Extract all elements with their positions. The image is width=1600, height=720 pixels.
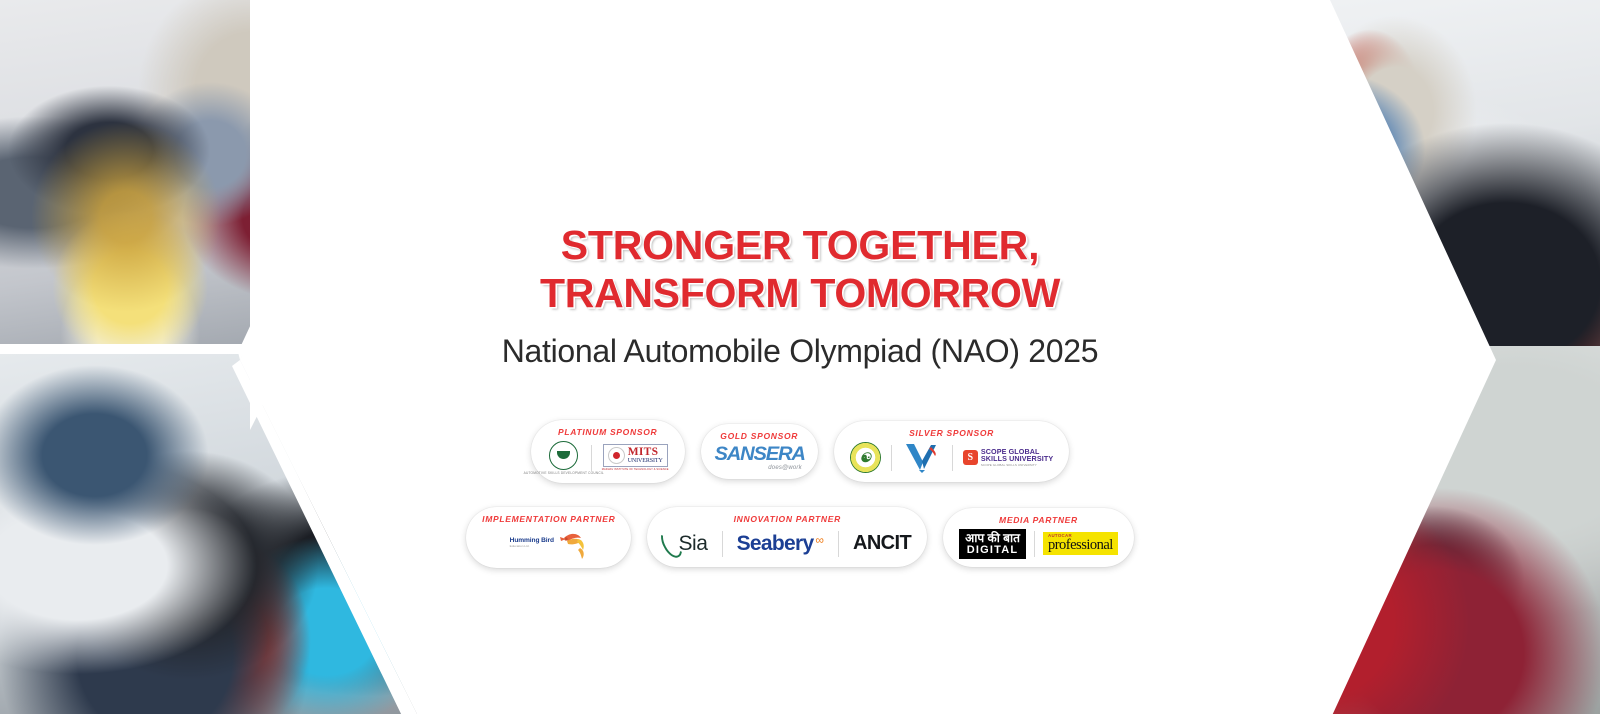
asdc-caption: AUTOMOTIVE SKILLS DEVELOPMENT COUNCIL (524, 471, 604, 475)
sponsor-card-silver[interactable]: SILVER SPONSOR ☯ (834, 421, 1069, 482)
sansera-logo[interactable]: SANSERA does@work (717, 445, 802, 471)
government-seal-icon: ☯ (850, 442, 881, 473)
logo-divider (838, 531, 839, 557)
humming-bird-icon (558, 528, 588, 560)
scope-caption: SCOPE GLOBAL SKILLS UNIVERSITY (981, 464, 1053, 467)
sponsor-tier-label: MEDIA PARTNER (999, 515, 1078, 525)
logo-strip: आप की बात DIGITAL AUTOCAR professional (959, 529, 1118, 559)
mits-caption: MADHAV INSTITUTE OF TECHNOLOGY & SCIENCE (602, 468, 669, 471)
mits-university-logo[interactable]: MITS UNIVERSITY MADHAV INSTITUTE OF TECH… (602, 444, 669, 472)
sponsor-tier-label: GOLD SPONSOR (720, 431, 798, 441)
sponsor-card-platinum[interactable]: PLATINUM SPONSOR AUTOMOTIVE SKILLS DEVEL… (531, 420, 685, 483)
logo-divider (1034, 531, 1035, 557)
logo-divider (952, 445, 953, 471)
sponsor-card-innovation-partner[interactable]: INNOVATION PARTNER Sia Seabery ∞ (647, 507, 927, 567)
hero-content: STRONGER TOGETHER, TRANSFORM TOMORROW Na… (0, 0, 1600, 720)
mits-emblem-icon (608, 447, 625, 464)
logo-divider (891, 445, 892, 471)
ancit-wordmark: ANCIT (853, 532, 911, 555)
ancit-logo[interactable]: ANCIT (853, 532, 911, 555)
professional-magazine-logo[interactable]: AUTOCAR professional (1043, 532, 1118, 556)
logo-strip: AUTOMOTIVE SKILLS DEVELOPMENT COUNCIL MI… (547, 441, 669, 475)
humming-bird-subtext: Education Ltd. (510, 545, 530, 548)
page-title: STRONGER TOGETHER, TRANSFORM TOMORROW (400, 222, 1200, 317)
humming-bird-logo[interactable]: Humming Bird Education Ltd. (510, 528, 588, 560)
sponsor-row-partners: IMPLEMENTATION PARTNER Humming Bird Educ… (400, 504, 1200, 570)
scope-global-skills-university-logo[interactable]: S SCOPE GLOBAL SKILLS UNIVERSITY SCOPE G… (963, 448, 1053, 467)
sponsor-card-gold[interactable]: GOLD SPONSOR SANSERA does@work (701, 424, 818, 479)
event-subtitle: National Automobile Olympiad (NAO) 2025 (400, 333, 1200, 370)
logo-divider (722, 531, 723, 557)
mits-wordmark: MITS (628, 447, 663, 459)
logo-strip: SANSERA does@work (717, 445, 802, 471)
headline-line-1: STRONGER TOGETHER, (400, 222, 1200, 270)
sia-wordmark: Sia (678, 532, 707, 556)
sponsor-card-implementation-partner[interactable]: IMPLEMENTATION PARTNER Humming Bird Educ… (466, 507, 631, 568)
seabery-wordmark: Seabery (737, 532, 814, 556)
seabery-logo[interactable]: Seabery ∞ (737, 532, 824, 556)
aap-ki-baat-digital-logo[interactable]: आप की बात DIGITAL (959, 529, 1026, 559)
sponsor-card-media-partner[interactable]: MEDIA PARTNER आप की बात DIGITAL AUTOCAR … (943, 508, 1134, 567)
v-bird-logo[interactable] (902, 442, 942, 474)
professional-wordmark: professional (1048, 538, 1113, 553)
logo-divider (591, 445, 592, 471)
scope-line-2: SKILLS UNIVERSITY (981, 455, 1053, 463)
v-bird-icon (902, 442, 942, 474)
sansera-wordmark: SANSERA (714, 445, 804, 464)
sponsor-tier-label: IMPLEMENTATION PARTNER (482, 514, 615, 524)
aap-ki-baat-hindi-text: आप की बात (965, 532, 1020, 544)
sponsor-tier-label: SILVER SPONSOR (909, 428, 994, 438)
poster-canvas: STRONGER TOGETHER, TRANSFORM TOMORROW Na… (0, 0, 1600, 720)
mits-subtext: UNIVERSITY (628, 458, 663, 464)
asdc-seal-icon (549, 441, 578, 470)
scope-mark-icon: S (963, 450, 978, 465)
seabery-infinity-icon: ∞ (815, 533, 824, 547)
government-emblem-logo[interactable]: ☯ (850, 442, 881, 473)
sponsor-tier-label: PLATINUM SPONSOR (558, 427, 657, 437)
logo-strip: ☯ (850, 442, 1053, 474)
sponsor-tier-label: INNOVATION PARTNER (734, 514, 841, 524)
digital-text: DIGITAL (967, 545, 1019, 556)
asdc-logo[interactable]: AUTOMOTIVE SKILLS DEVELOPMENT COUNCIL (547, 441, 581, 475)
logo-strip: Sia Seabery ∞ ANCIT (663, 528, 911, 559)
headline-line-2: TRANSFORM TOMORROW (400, 270, 1200, 318)
sponsor-row-primary: PLATINUM SPONSOR AUTOMOTIVE SKILLS DEVEL… (400, 420, 1200, 482)
sansera-tagline: does@work (768, 465, 802, 471)
sia-logo[interactable]: Sia (663, 528, 707, 559)
logo-strip: Humming Bird Education Ltd. (510, 528, 588, 560)
